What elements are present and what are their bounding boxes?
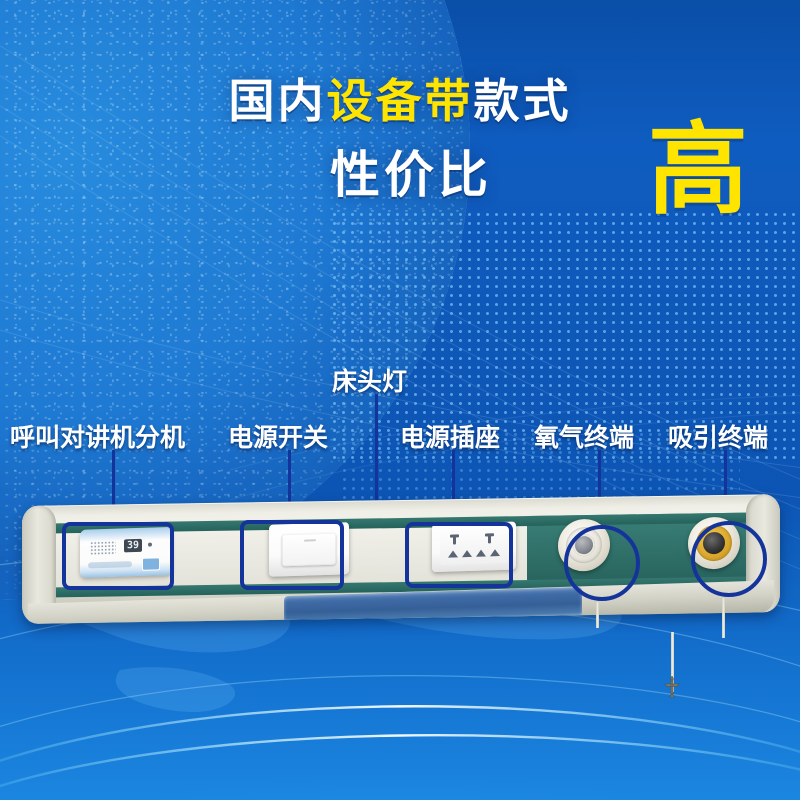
callout-label-call-intercom: 呼叫对讲机分机: [10, 418, 185, 454]
headline-part-2: 款式: [474, 74, 572, 128]
headline-part-1: 国内: [229, 74, 327, 128]
cord-anchor-icon: [664, 676, 680, 698]
headline-block: 国内设备带款式 性价比 高: [0, 78, 800, 252]
callout-label-bed-lamp: 床头灯: [332, 362, 407, 398]
callout-label-power-switch: 电源开关: [228, 418, 328, 454]
headline-big-accent: 高: [648, 120, 748, 220]
callout-label-suction-outlet: 吸引终端: [668, 418, 768, 454]
highlight-circle-oxygen: [564, 525, 640, 601]
suction-cord: [722, 598, 725, 638]
highlight-box-power-switch: [240, 520, 344, 590]
highlight-box-call-intercom: [62, 522, 174, 590]
headline-line-2: 性价比: [330, 150, 492, 200]
headline-highlight: 设备带: [327, 74, 474, 128]
callout-label-power-socket: 电源插座: [400, 418, 500, 454]
oxygen-cord: [596, 602, 599, 628]
highlight-circle-suction: [691, 521, 767, 597]
callout-label-oxygen-outlet: 氧气终端: [534, 418, 634, 454]
promo-banner: 国内设备带款式 性价比 高 呼叫对讲机分机 电源开关 床头灯 电源插座 氧气终端…: [0, 0, 800, 800]
highlight-box-power-socket: [405, 522, 513, 588]
